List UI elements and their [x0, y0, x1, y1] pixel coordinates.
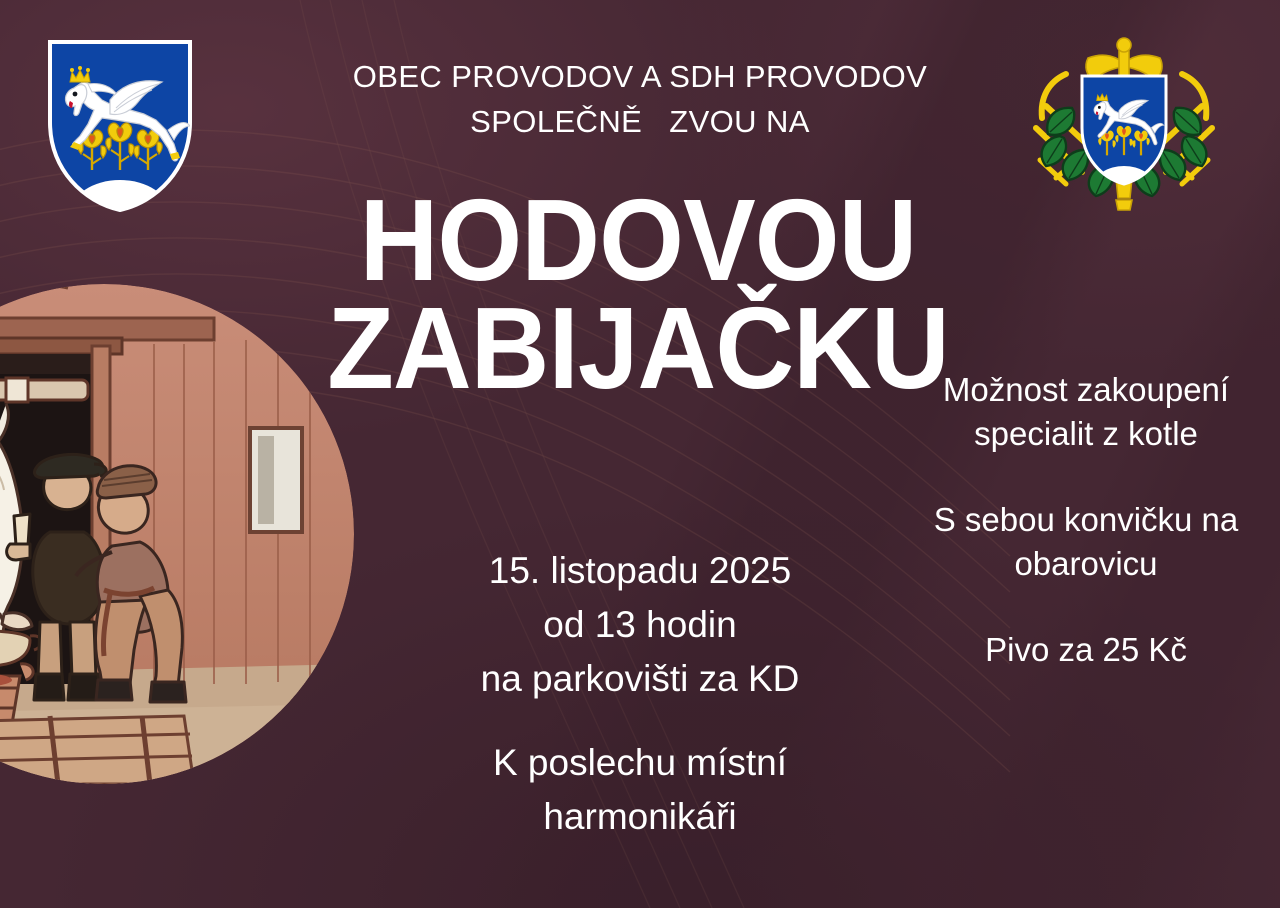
- event-details-block: 15. listopadu 2025 od 13 hodin na parkov…: [370, 544, 910, 844]
- side-info-specialities-line-2: specialit z kotle: [900, 412, 1272, 456]
- side-info-bring-jug-line-2: obarovicu: [900, 542, 1272, 586]
- header-line-organizers: OBEC PROVODOV A SDH PROVODOV: [300, 54, 980, 99]
- event-music-line-1: K poslechu místní: [370, 736, 910, 790]
- sdh-fire-brigade-emblem-icon: [1026, 32, 1222, 222]
- page-title: HODOVOU ZABIJAČKU: [288, 186, 988, 402]
- side-info-specialities-line-1: Možnost zakoupení: [900, 368, 1272, 412]
- header-line-invite: SPOLEČNĚ ZVOU NA: [300, 99, 980, 144]
- poster-canvas: OBEC PROVODOV A SDH PROVODOV SPOLEČNĚ ZV…: [0, 0, 1280, 908]
- event-date: 15. listopadu 2025: [370, 544, 910, 598]
- side-info-group-specialities: Možnost zakoupení specialit z kotle: [900, 368, 1272, 456]
- side-info-block: Možnost zakoupení specialit z kotle S se…: [900, 368, 1272, 672]
- event-time: od 13 hodin: [370, 598, 910, 652]
- municipal-coat-of-arms-icon: [44, 38, 196, 214]
- event-place: na parkovišti za KD: [370, 652, 910, 706]
- side-info-bring-jug-line-1: S sebou konvičku na: [900, 498, 1272, 542]
- side-info-group-beer-price: Pivo za 25 Kč: [900, 628, 1272, 672]
- side-info-group-bring-jug: S sebou konvičku na obarovicu: [900, 498, 1272, 586]
- header-invitation-block: OBEC PROVODOV A SDH PROVODOV SPOLEČNĚ ZV…: [300, 54, 980, 144]
- side-info-beer-price: Pivo za 25 Kč: [900, 628, 1272, 672]
- event-music-line-2: harmonikáři: [370, 790, 910, 844]
- title-line-1: HODOVOU: [309, 186, 967, 294]
- title-line-2: ZABIJAČKU: [309, 294, 967, 402]
